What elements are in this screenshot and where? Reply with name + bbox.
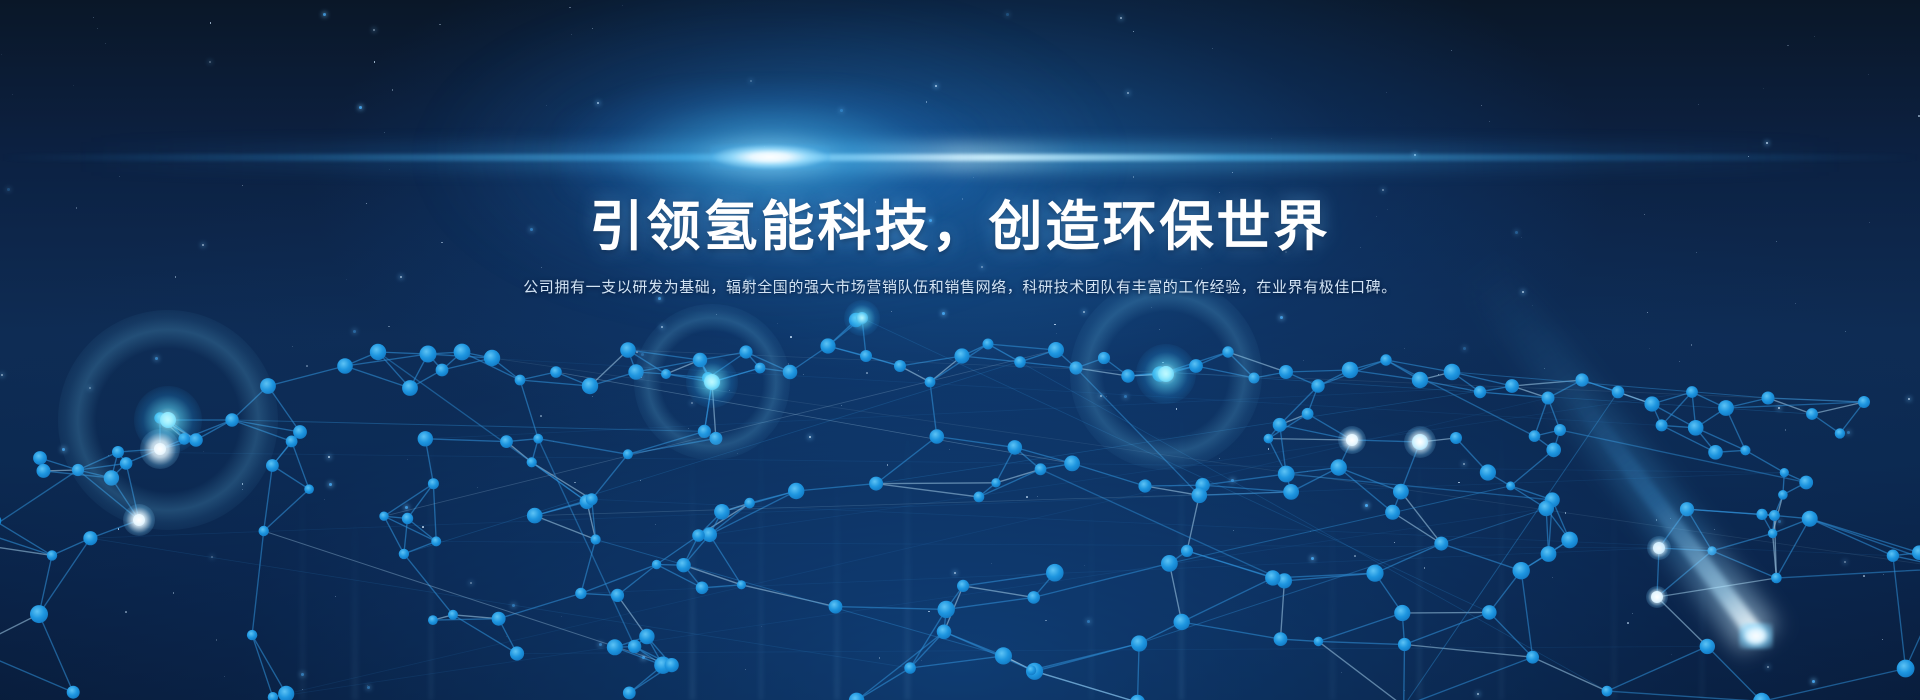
star-particles — [0, 0, 1920, 700]
light-beam-icon — [0, 0, 1920, 700]
banner-subheadline: 公司拥有一支以研发为基础，辐射全国的强大市场营销队伍和销售网络，科研技术团队有丰… — [0, 277, 1920, 299]
network-mesh-icon — [0, 0, 1920, 700]
hero-banner: 引领氢能科技，创造环保世界 公司拥有一支以研发为基础，辐射全国的强大市场营销队伍… — [0, 0, 1920, 700]
light-rays — [0, 0, 1920, 700]
lens-flare-icon — [0, 0, 1920, 700]
banner-headline: 引领氢能科技，创造环保世界 — [0, 196, 1920, 258]
node-glow-overlays — [0, 0, 1920, 700]
